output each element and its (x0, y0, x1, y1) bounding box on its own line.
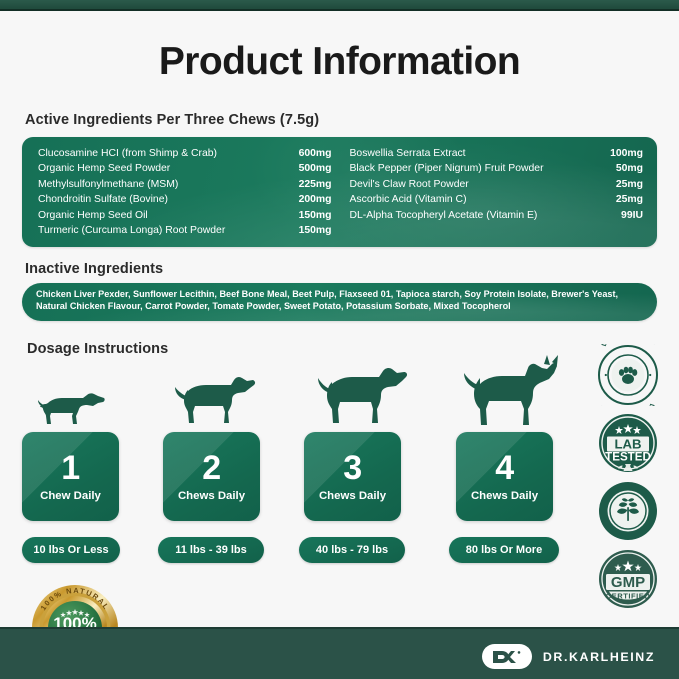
brand-lockup: DR.KARLHEINZ (482, 644, 655, 669)
ingredient-name: Clucosamine HCI (from Shimp & Crab) (38, 146, 278, 161)
ingredient-row: DL-Alpha Tocopheryl Acetate (Vitamin E) … (350, 208, 644, 223)
inactive-ingredients-text: Chicken Liver Pexder, Sunflower Lecithin… (36, 288, 643, 313)
weight-range-label: 11 lbs - 39 lbs (175, 544, 247, 556)
certification-badges: DOG FRIENDLY DOG FRIENDLY (597, 344, 661, 616)
ingredient-amount: 150mg (278, 208, 332, 223)
brand-name: DR.KARLHEINZ (543, 650, 655, 664)
weight-range-pill-4: 80 lbs Or More (449, 537, 559, 563)
ingredient-amount: 225mg (278, 177, 332, 192)
ingredient-row: Clucosamine HCI (from Shimp & Crab) 600m… (38, 146, 332, 161)
dosage-label: Chew Daily (40, 490, 101, 502)
weight-range-label: 10 lbs Or Less (33, 544, 108, 556)
weight-range-label: 40 lbs - 79 lbs (316, 544, 388, 556)
dosage-number: 1 (61, 451, 79, 485)
active-ingredients-column-left: Clucosamine HCI (from Shimp & Crab) 600m… (38, 146, 332, 238)
ingredient-amount: 25mg (593, 177, 643, 192)
ingredient-name: Ascorbic Acid (Vitamin C) (350, 192, 594, 207)
ingredient-row: Organic Hemp Seed Powder 500mg (38, 161, 332, 176)
active-ingredients-column-right: Boswellia Serrata Extract 100mg Black Pe… (332, 146, 644, 238)
gmp-certified-badge-icon: GMP CERTIFIED (597, 548, 659, 610)
dosage-instructions-heading: Dosage Instructions (27, 341, 168, 357)
inactive-ingredients-heading: Inactive Ingredients (25, 261, 163, 277)
weight-range-pill-3: 40 lbs - 79 lbs (299, 537, 405, 563)
ingredient-row: Turmeric (Curcuma Longa) Root Powder 150… (38, 223, 332, 238)
large-dog-silhouette-icon (314, 362, 414, 426)
inactive-ingredients-panel: Chicken Liver Pexder, Sunflower Lecithin… (22, 283, 657, 321)
badge-line-2: TESTED (605, 451, 651, 464)
ingredient-amount: 100mg (593, 146, 643, 161)
ingredient-row: Black Pepper (Piper Nigrum) Fruit Powder… (350, 161, 644, 176)
dosage-label: Chews Daily (178, 490, 245, 502)
ingredient-row: Chondroitin Sulfate (Bovine) 200mg (38, 192, 332, 207)
dosage-number: 3 (343, 451, 361, 485)
ingredient-amount: 150mg (278, 223, 332, 238)
ingredient-row: Organic Hemp Seed Oil 150mg (38, 208, 332, 223)
dosage-number: 4 (495, 451, 513, 485)
ingredient-amount: 600mg (278, 146, 332, 161)
ingredient-amount: 50mg (593, 161, 643, 176)
active-ingredients-panel: Clucosamine HCI (from Shimp & Crab) 600m… (22, 137, 657, 247)
dosage-label: Chews Daily (471, 490, 538, 502)
dog-silhouette-row (22, 358, 578, 426)
ingredient-row: Boswellia Serrata Extract 100mg (350, 146, 644, 161)
dosage-card-3[interactable]: 3 Chews Daily (304, 432, 401, 521)
lab-tested-badge-icon: LAB TESTED (597, 412, 659, 474)
ingredient-amount: 99IU (593, 208, 643, 223)
medium-dog-silhouette-icon (172, 370, 264, 426)
ingredient-amount: 25mg (593, 192, 643, 207)
doberman-silhouette-icon (460, 354, 564, 426)
product-information-label: Product Information Active Ingredients P… (0, 0, 679, 679)
ingredient-amount: 500mg (278, 161, 332, 176)
dosage-label: Chews Daily (319, 490, 386, 502)
dosage-card-1[interactable]: 1 Chew Daily (22, 432, 119, 521)
ingredient-name: DL-Alpha Tocopheryl Acetate (Vitamin E) (350, 208, 594, 223)
page-title: Product Information (0, 40, 679, 84)
badge-line-1: LAB (614, 436, 641, 451)
ingredient-name: Organic Hemp Seed Powder (38, 161, 278, 176)
ingredient-name: Chondroitin Sulfate (Bovine) (38, 192, 278, 207)
ingredient-name: Black Pepper (Piper Nigrum) Fruit Powder (350, 161, 594, 176)
non-gmo-badge-icon: NON GMO NON GMO (597, 480, 659, 542)
ingredient-name: Devil's Claw Root Powder (350, 177, 594, 192)
dosage-cards-row: 1 Chew Daily 10 lbs Or Less 2 Chews Dail… (22, 432, 578, 572)
weight-range-label: 80 lbs Or More (466, 544, 542, 556)
dosage-card-4[interactable]: 4 Chews Daily (456, 432, 553, 521)
badge-line-1: GMP (611, 574, 645, 591)
top-accent-divider (0, 9, 679, 11)
dosage-number: 2 (202, 451, 220, 485)
ingredient-row: Methylsulfonylmethane (MSM) 225mg (38, 177, 332, 192)
top-accent-bar (0, 0, 679, 9)
dosage-card-2[interactable]: 2 Chews Daily (163, 432, 260, 521)
active-ingredients-heading: Active Ingredients Per Three Chews (7.5g… (25, 112, 319, 128)
dachshund-silhouette-icon (36, 382, 120, 426)
ingredient-name: Turmeric (Curcuma Longa) Root Powder (38, 223, 278, 238)
badge-line-2: CERTIFIED (606, 592, 651, 601)
dog-friendly-badge-icon: DOG FRIENDLY DOG FRIENDLY (597, 344, 659, 406)
ingredient-amount: 200mg (278, 192, 332, 207)
ingredient-name: Organic Hemp Seed Oil (38, 208, 278, 223)
weight-range-pill-1: 10 lbs Or Less (22, 537, 120, 563)
ingredient-name: Methylsulfonylmethane (MSM) (38, 177, 278, 192)
ingredient-row: Devil's Claw Root Powder 25mg (350, 177, 644, 192)
ingredient-row: Ascorbic Acid (Vitamin C) 25mg (350, 192, 644, 207)
ingredient-name: Boswellia Serrata Extract (350, 146, 594, 161)
weight-range-pill-2: 11 lbs - 39 lbs (158, 537, 264, 563)
dk-logo-mark-icon (482, 644, 532, 669)
